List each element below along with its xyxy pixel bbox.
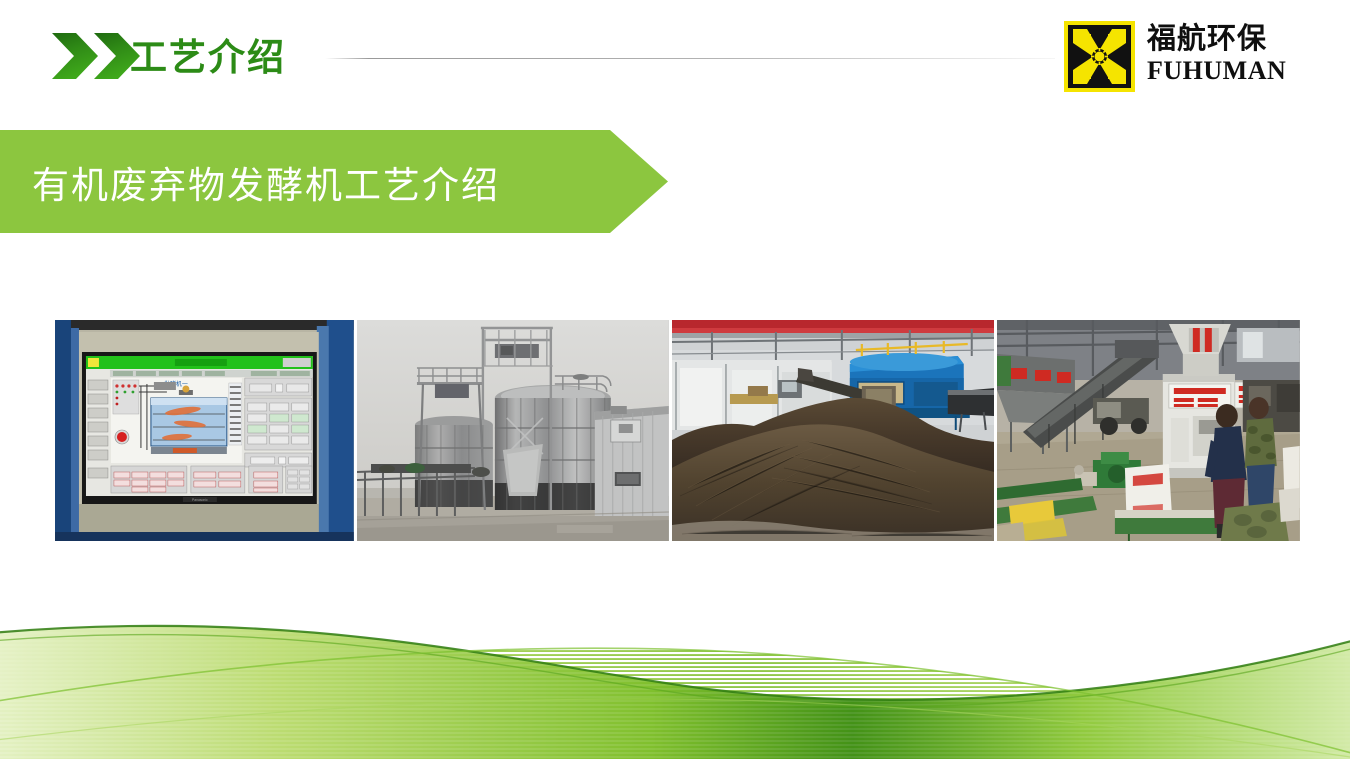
svg-text:Panasonic: Panasonic bbox=[192, 498, 208, 502]
photo-bagging-machine[interactable] bbox=[997, 320, 1300, 541]
logo-wordmark: 福航环保 FUHUMAN bbox=[1147, 22, 1327, 86]
photo-strip: 发酵机一 bbox=[55, 320, 1300, 541]
photo-compost-pile[interactable] bbox=[672, 320, 995, 541]
banner-title: 有机废弃物发酵机工艺介绍 bbox=[32, 130, 500, 233]
logo-company-cn: 福航环保 bbox=[1147, 22, 1327, 56]
logo-company-en: FUHUMAN bbox=[1147, 56, 1327, 86]
photo-fermentation-tanks[interactable] bbox=[357, 320, 669, 541]
double-chevron-right-icon bbox=[50, 31, 142, 81]
header-divider bbox=[325, 58, 1055, 59]
photo-control-room-scada[interactable]: 发酵机一 bbox=[55, 320, 354, 541]
green-ribbon-wave bbox=[0, 592, 1350, 759]
fuhuman-square-logo-icon bbox=[1063, 20, 1136, 93]
page-title: 工艺介绍 bbox=[130, 36, 286, 80]
company-logo: 福航环保 FUHUMAN bbox=[1063, 20, 1283, 96]
slide-banner: 有机废弃物发酵机工艺介绍 bbox=[0, 130, 668, 233]
